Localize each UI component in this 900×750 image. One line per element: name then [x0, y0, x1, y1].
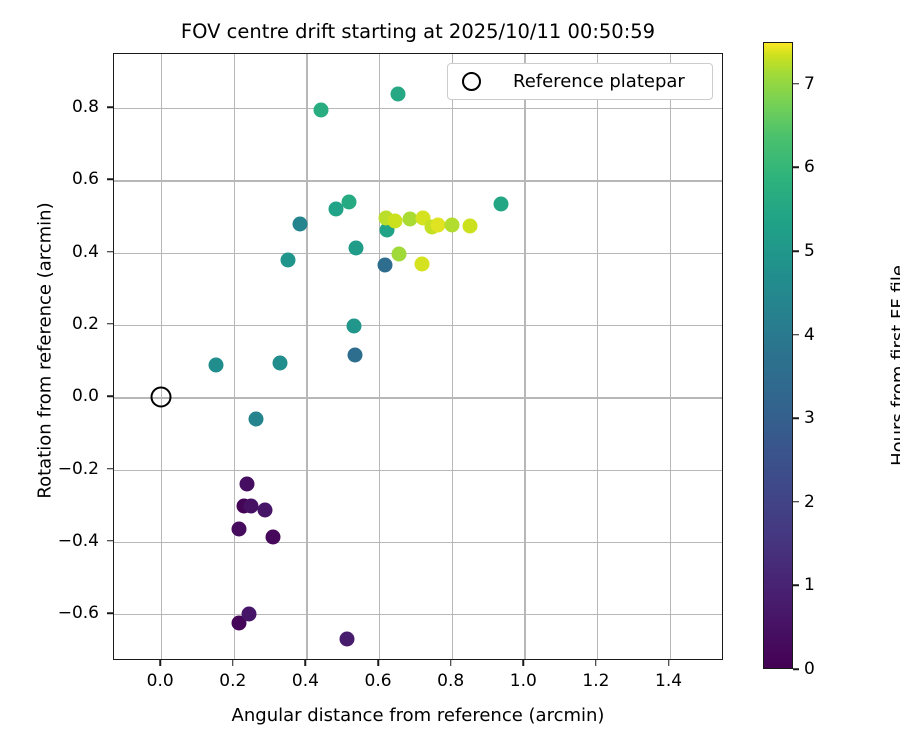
- chart-title: FOV centre drift starting at 2025/10/11 …: [113, 20, 723, 44]
- colorbar-tick-label: 5: [804, 241, 815, 261]
- colorbar-tick-label: 2: [804, 492, 815, 512]
- y-tick: [107, 323, 113, 325]
- colorbar-tick-label: 4: [804, 325, 815, 345]
- y-tick: [107, 179, 113, 181]
- reference-marker-layer: [114, 54, 722, 659]
- y-tick: [107, 540, 113, 542]
- x-tick-label: 0.8: [437, 671, 464, 691]
- colorbar-tick-label: 7: [804, 74, 815, 94]
- x-tick-label: 1.2: [582, 671, 609, 691]
- colorbar-tick: [793, 417, 799, 419]
- reference-platepar-point: [151, 387, 172, 408]
- x-tick: [305, 660, 307, 666]
- colorbar-tick: [793, 83, 799, 85]
- y-axis-label: Rotation from reference (arcmin): [35, 46, 56, 656]
- colorbar-label: Hours from first FF file: [888, 52, 900, 679]
- colorbar-gradient: [763, 42, 793, 669]
- colorbar-tick-label: 6: [804, 157, 815, 177]
- x-tick-label: 1.0: [510, 671, 537, 691]
- colorbar-tick: [793, 250, 799, 252]
- x-tick-label: 0.4: [292, 671, 319, 691]
- y-tick: [107, 251, 113, 253]
- x-tick: [232, 660, 234, 666]
- x-tick: [595, 660, 597, 666]
- x-axis-label: Angular distance from reference (arcmin): [113, 705, 723, 726]
- x-tick: [159, 660, 161, 666]
- x-tick: [450, 660, 452, 666]
- colorbar-tick: [793, 334, 799, 336]
- colorbar-tick-label: 0: [804, 659, 815, 679]
- colorbar-tick: [793, 501, 799, 503]
- colorbar-tick: [793, 585, 799, 587]
- x-tick-label: 1.4: [655, 671, 682, 691]
- y-tick: [107, 612, 113, 614]
- plot-area: [113, 53, 723, 660]
- colorbar-tick: [793, 668, 799, 670]
- colorbar: 01234567: [763, 42, 793, 669]
- x-tick: [523, 660, 525, 666]
- y-tick: [107, 468, 113, 470]
- x-tick-label: 0.0: [147, 671, 174, 691]
- colorbar-tick: [793, 167, 799, 169]
- legend-item-label: Reference platepar: [513, 71, 685, 92]
- chart-figure: FOV centre drift starting at 2025/10/11 …: [0, 0, 900, 750]
- colorbar-tick-label: 3: [804, 408, 815, 428]
- y-tick: [107, 395, 113, 397]
- x-tick: [377, 660, 379, 666]
- x-tick-label: 0.2: [219, 671, 246, 691]
- x-tick: [668, 660, 670, 666]
- reference-platepar-marker-icon: [462, 72, 481, 91]
- y-tick: [107, 106, 113, 108]
- x-tick-label: 0.6: [365, 671, 392, 691]
- legend: Reference platepar: [447, 63, 713, 100]
- colorbar-tick-label: 1: [804, 575, 815, 595]
